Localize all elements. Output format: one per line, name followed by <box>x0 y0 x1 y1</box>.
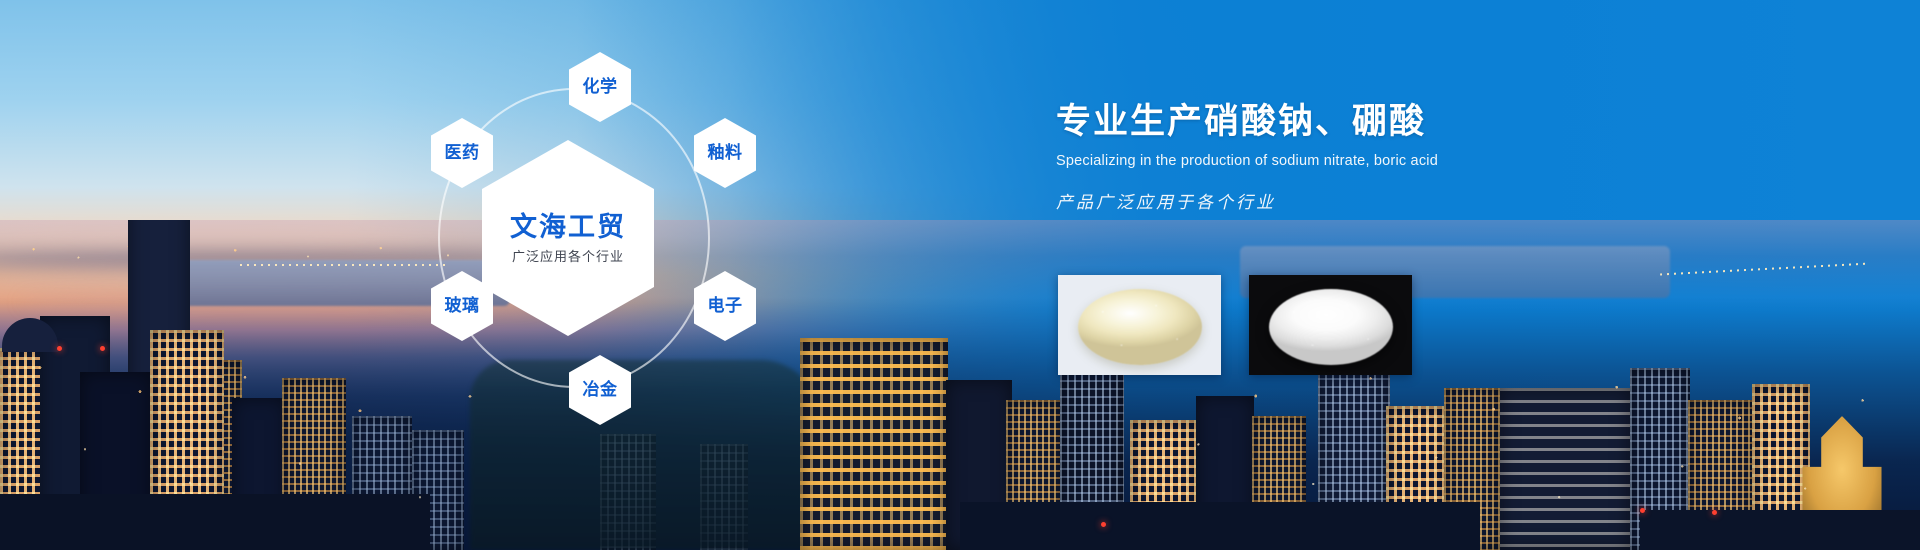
hex-node-label: 化学 <box>583 77 618 97</box>
product-photo-sodium-nitrate[interactable] <box>1058 275 1221 375</box>
building <box>800 338 948 550</box>
product-photo-group <box>1058 275 1412 375</box>
building <box>1500 388 1630 550</box>
headline: 专业生产硝酸钠、硼酸 <box>1056 100 1696 144</box>
hero-banner: 文海工贸 广泛应用各个行业 化学 釉料 电子 冶金 玻璃 医药 专业生产硝酸钠、… <box>0 0 1920 550</box>
hex-node-label: 冶金 <box>583 380 618 400</box>
headline-block: 专业生产硝酸钠、硼酸 Specializing in the productio… <box>1056 100 1696 213</box>
hex-node-label: 医药 <box>445 143 480 163</box>
foreground-rooftop <box>0 494 430 550</box>
hex-node-label: 电子 <box>708 296 743 316</box>
cityscape <box>0 220 1920 550</box>
tagline: 产品广泛应用于各个行业 <box>1056 188 1696 213</box>
foreground-rooftop <box>1640 510 1920 550</box>
powder-pile <box>1269 289 1393 365</box>
product-photo-boric-acid[interactable] <box>1249 275 1412 375</box>
industry-hex-diagram: 文海工贸 广泛应用各个行业 化学 釉料 电子 冶金 玻璃 医药 <box>430 30 770 430</box>
bridge-left <box>240 264 450 266</box>
brand-subtitle: 广泛应用各个行业 <box>512 250 624 265</box>
powder-pile <box>1078 289 1202 365</box>
brand-title: 文海工贸 <box>510 212 626 243</box>
powder-grain-texture <box>1078 289 1202 365</box>
hex-node-label: 釉料 <box>708 143 743 163</box>
foreground-rooftop <box>960 502 1480 550</box>
headline-english: Specializing in the production of sodium… <box>1056 153 1696 169</box>
hex-node-glaze[interactable]: 釉料 <box>694 118 756 188</box>
hex-node-label: 玻璃 <box>445 296 480 316</box>
powder-grain-texture <box>1269 289 1393 365</box>
